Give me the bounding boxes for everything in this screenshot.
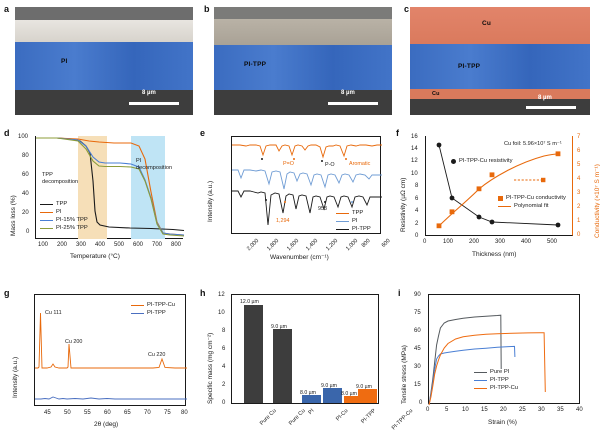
panel-e-xtick-1000: 1,000 [345, 238, 359, 252]
legend-label-pi25: PI-25% TPP [56, 224, 88, 232]
panel-g-axes: Cu 111 Cu 200 Cu 220 PI-TPP-Cu PI-TPP [34, 294, 186, 406]
sem-panel-a: PI 8 µm [15, 7, 193, 115]
panel-f-ytick-2: 2 [415, 221, 418, 227]
legend-item-e-pitpp: PI-TPP [336, 225, 371, 233]
panel-d-xtick-100: 100 [38, 242, 48, 248]
legend-swatch-pi [40, 212, 53, 213]
panel-e-axes: P=O P-O Aromatic 1,294 953 TPP PI PI-TPP [231, 136, 381, 234]
panel-label-c: c [404, 4, 409, 14]
peak-marker-4 [345, 158, 347, 160]
panel-e-xtick-1200: 1,200 [325, 238, 339, 252]
panel-h-xtick-pi: PI [308, 408, 316, 416]
panel-d-ytick-80: 80 [22, 153, 29, 159]
panel-f-ytick-14: 14 [411, 146, 418, 152]
panel-f-ytick-0: 0 [415, 233, 418, 239]
peak-label-p-double-o: P=O [283, 161, 294, 167]
panel-h-xtick-pi-cu: PI-Cu [335, 408, 349, 422]
panel-i-ytick-75: 75 [414, 310, 421, 316]
panel-e-xtick-800: 800 [361, 238, 372, 249]
figure-root: a PI 8 µm b PI-TPP 8 µm c Cu PI-TPP Cu 8… [0, 0, 600, 444]
legend-swatch-i-pitpp [474, 380, 487, 381]
peak-label-cu111: Cu 111 [45, 310, 62, 316]
panel-i-ytick-45: 45 [414, 346, 421, 352]
panel-h-ytick-4: 4 [222, 364, 225, 370]
panel-d-ytick-0: 0 [26, 229, 29, 235]
bar-pi [302, 395, 321, 403]
peak-marker-2 [293, 158, 295, 160]
panel-g-xlabel: 2θ (deg) [94, 421, 118, 428]
panel-g-ylabel: Intensity (a.u.) [12, 357, 19, 398]
plot-panel-i: Tensile stress (MPa) Pure PI PI-TPP PI-T… [390, 286, 600, 441]
series-xrd-pitpp [35, 397, 187, 399]
peak-label-p-o: P-O [325, 162, 335, 168]
panel-f-xtick-300: 300 [495, 239, 505, 245]
bar-label-pi-cu: 9.0 µm [321, 383, 337, 389]
legend-item-f-conductivity: PI-TPP-Cu conductivity [498, 194, 566, 202]
peak-marker-3 [321, 160, 323, 162]
sem-a-scale-text: 8 µm [142, 90, 156, 96]
peak-marker-1 [261, 158, 263, 160]
legend-item-f-polyfit: Polynomial fit [498, 202, 566, 210]
panel-i-ytick-90: 90 [414, 292, 421, 298]
bar-pi-tpp-cu [358, 389, 377, 403]
panel-d-ytick-20: 20 [22, 210, 29, 216]
legend-swatch-pi25 [40, 228, 53, 229]
panel-h-ytick-6: 6 [222, 346, 225, 352]
panel-i-xtick-5: 5 [445, 407, 448, 413]
panel-f-annotation-cufoil: Cu foil: 5.96×10⁷ S m⁻¹ [504, 141, 562, 148]
panel-f-canvas [426, 136, 574, 236]
legend-swatch-e-tpp [336, 213, 349, 214]
panel-e-xtick-2000: 2,000 [246, 238, 260, 252]
panel-h-ytick-8: 8 [222, 328, 225, 334]
panel-d-annotation-tpp: TPPdecomposition [42, 172, 78, 186]
panel-g-xtick-75: 75 [164, 410, 171, 416]
sem-a-top-bg [15, 7, 193, 20]
bar-pi-cu [323, 388, 342, 403]
legend-swatch-f-polyfit [498, 206, 511, 207]
panel-f-y2tick-3: 3 [577, 190, 580, 196]
panel-f-ytick-8: 8 [415, 183, 418, 189]
panel-label-b: b [204, 4, 210, 14]
sem-b-scale-bar [328, 102, 378, 105]
sem-a-pi-layer [15, 42, 193, 90]
panel-i-ytick-15: 15 [414, 382, 421, 388]
panel-d-ytick-100: 100 [18, 134, 28, 140]
panel-h-xtick-pi-tpp: PI-TPP [360, 408, 377, 425]
panel-f-legend-resistivity: PI-TPP-Cu resistivity [451, 157, 512, 165]
legend-item-i-pitpp: PI-TPP [474, 376, 518, 384]
sem-b-resin-layer [214, 19, 392, 45]
peak-label-cu220: Cu 220 [148, 352, 165, 358]
sem-b-scale-text: 8 µm [341, 90, 355, 96]
panel-d-xtick-800: 800 [171, 242, 181, 248]
sem-b-pitpp-layer [214, 45, 392, 90]
panel-f-y2tick-4: 4 [577, 176, 580, 182]
legend-swatch-pi15 [40, 220, 53, 221]
panel-d-ylabel: Mass loss (%) [10, 195, 17, 236]
panel-i-xtick-35: 35 [557, 407, 564, 413]
panel-e-xtick-1600: 1,600 [286, 238, 300, 252]
sem-panel-b: PI-TPP 8 µm [214, 7, 392, 115]
peak-marker-5 [265, 199, 267, 201]
panel-f-legend-conductivity: PI-TPP-Cu conductivity Polynomial fit [498, 194, 566, 210]
legend-item-pi: PI [40, 208, 88, 216]
panel-f-xtick-500: 500 [547, 239, 557, 245]
sem-a-resin-layer [15, 20, 193, 42]
peak-value-1294: 1,294 [276, 218, 290, 224]
sem-c-scale-text: 8 µm [538, 95, 552, 101]
panel-d-xtick-200: 200 [57, 242, 67, 248]
panel-f-ytick-4: 4 [415, 208, 418, 214]
panel-f-y2tick-1: 1 [577, 218, 580, 224]
panel-h-ytick-2: 2 [222, 382, 225, 388]
series-ftir-tpp [232, 145, 382, 157]
plot-panel-h: Specific mass (mg cm⁻²) 12.0 µm 9.0 µm 8… [195, 286, 395, 441]
panel-g-xtick-45: 45 [44, 410, 51, 416]
panel-h-ylabel: Specific mass (mg cm⁻²) [206, 333, 214, 404]
panel-e-xtick-1400: 1,400 [305, 238, 319, 252]
sem-a-layer-label: PI [61, 58, 68, 65]
panel-i-ytick-60: 60 [414, 328, 421, 334]
panel-i-ylabel: Tensile stress (MPa) [401, 345, 408, 404]
legend-label-i-pitppcu: PI-TPP-Cu [490, 384, 518, 392]
bar-label-pi: 8.0 µm [300, 390, 316, 396]
panel-i-ytick-0: 0 [419, 400, 422, 406]
sem-c-cu-top-layer [410, 7, 590, 44]
legend-item-pi15: PI-15% TPP [40, 216, 88, 224]
bar-label-pure-cu-9: 9.0 µm [271, 324, 287, 330]
bar-pure-cu-12 [244, 305, 263, 404]
panel-f-xtick-200: 200 [469, 239, 479, 245]
panel-d-legend: TPP PI PI-15% TPP PI-25% TPP [40, 200, 88, 232]
panel-i-xtick-20: 20 [500, 407, 507, 413]
panel-f-xtick-0: 0 [423, 239, 426, 245]
bar-pure-cu-9 [273, 329, 292, 403]
panel-f-y2tick-6: 6 [577, 148, 580, 154]
panel-f-y2tick-0: 0 [577, 232, 580, 238]
panel-i-xlabel: Strain (%) [488, 419, 517, 426]
bar-label-pi-tpp-cu: 9.0 µm [356, 384, 372, 390]
panel-i-xtick-25: 25 [519, 407, 526, 413]
legend-swatch-i-pitppcu [474, 388, 487, 389]
panel-f-y2tick-5: 5 [577, 162, 580, 168]
panel-e-legend: TPP PI PI-TPP [336, 209, 371, 233]
panel-i-xtick-15: 15 [481, 407, 488, 413]
panel-h-xtick-pure-cu-1: Pure Cu [259, 408, 278, 427]
panel-i-axes: Pure PI PI-TPP PI-TPP-Cu [428, 294, 580, 404]
peak-marker-6 [284, 201, 286, 203]
panel-f-ytick-12: 12 [411, 158, 418, 164]
panel-i-xtick-30: 30 [538, 407, 545, 413]
panel-g-xtick-70: 70 [144, 410, 151, 416]
panel-g-xtick-65: 65 [124, 410, 131, 416]
legend-item-g-pitppcu: PI-TPP-Cu [131, 301, 175, 309]
panel-g-xtick-55: 55 [84, 410, 91, 416]
sem-c-cu-top-label: Cu [482, 20, 491, 27]
panel-h-axes: 12.0 µm 9.0 µm 8.0 µm 9.0 µm 8.0 µm 9.0 … [231, 294, 379, 404]
peak-marker-8 [351, 201, 353, 203]
series-xrd-pitpp-cu [35, 313, 187, 368]
panel-f-ylabel: Resistivity (µΩ cm) [400, 178, 407, 232]
legend-label-f-polyfit: Polynomial fit [514, 202, 548, 210]
legend-item-i-pitppcu: PI-TPP-Cu [474, 384, 518, 392]
sem-a-scale-bar [129, 102, 179, 105]
legend-item-f-resistivity: PI-TPP-Cu resistivity [451, 157, 512, 165]
sem-c-pitpp-label: PI-TPP [458, 63, 480, 70]
legend-swatch-g-pitppcu [131, 305, 144, 306]
legend-swatch-f-conductivity [498, 196, 503, 201]
panel-d-xtick-700: 700 [152, 242, 162, 248]
sem-b-layer-label: PI-TPP [244, 61, 266, 68]
sem-b-top-bg [214, 7, 392, 19]
panel-h-ytick-0: 0 [222, 400, 225, 406]
legend-item-g-pitpp: PI-TPP [131, 309, 175, 317]
sem-c-cu-bottom-label: Cu [432, 91, 440, 97]
peak-label-cu200: Cu 200 [65, 339, 82, 345]
panel-i-xtick-40: 40 [576, 407, 583, 413]
bar-label-pure-cu-12: 12.0 µm [240, 299, 259, 305]
panel-h-ytick-12: 12 [218, 292, 225, 298]
panel-i-xtick-0: 0 [426, 407, 429, 413]
panel-h-xtick-pure-cu-2: Pure Cu [288, 408, 307, 427]
plot-panel-f: Resistivity (µΩ cm) Conductivity (×10⁷ S… [390, 126, 600, 266]
peak-label-aromatic: Aromatic [349, 161, 370, 167]
panel-d-xtick-500: 500 [114, 242, 124, 248]
panel-e-ylabel: Intensity (a.u.) [207, 181, 214, 222]
panel-d-xtick-300: 300 [76, 242, 86, 248]
legend-item-tpp: TPP [40, 200, 88, 208]
panel-f-y2tick-7: 7 [577, 134, 580, 140]
peak-marker-7 [324, 201, 326, 203]
panel-g-xtick-80: 80 [181, 410, 188, 416]
legend-item-i-purepi: Pure PI [474, 368, 518, 376]
legend-label-e-pitpp: PI-TPP [352, 225, 371, 233]
panel-i-legend: Pure PI PI-TPP PI-TPP-Cu [474, 368, 518, 392]
panel-g-xtick-60: 60 [104, 410, 111, 416]
panel-f-xtick-100: 100 [443, 239, 453, 245]
panel-f-ytick-10: 10 [411, 171, 418, 177]
sem-c-pitpp-layer [410, 44, 590, 89]
legend-swatch-g-pitpp [131, 313, 144, 314]
panel-d-xlabel: Temperature (°C) [70, 253, 120, 260]
legend-swatch-i-purepi [474, 372, 487, 373]
panel-g-xtick-50: 50 [64, 410, 71, 416]
legend-swatch-e-pitpp [336, 229, 349, 230]
panel-g-legend: PI-TPP-Cu PI-TPP [131, 301, 175, 317]
panel-e-xlabel: Wavenumber (cm⁻¹) [270, 253, 329, 261]
legend-swatch-e-pi [336, 221, 349, 222]
legend-item-e-pi: PI [336, 217, 371, 225]
panel-f-ytick-16: 16 [411, 134, 418, 140]
panel-f-y2label: Conductivity (×10⁷ S m⁻¹) [593, 164, 600, 238]
panel-d-axes: TPPdecomposition PIdecomposition TPP PI … [35, 136, 183, 239]
sem-panel-c: Cu PI-TPP Cu 8 µm [410, 7, 590, 115]
legend-label-g-pitpp: PI-TPP [147, 309, 166, 317]
panel-d-xtick-600: 600 [133, 242, 143, 248]
legend-label-f-resistivity: PI-TPP-Cu resistivity [459, 157, 512, 165]
panel-d-xtick-400: 400 [95, 242, 105, 248]
legend-swatch-f-resistivity [451, 159, 456, 164]
legend-item-e-tpp: TPP [336, 209, 371, 217]
legend-item-pi25: PI-25% TPP [40, 224, 88, 232]
plot-panel-g: Intensity (a.u.) Cu 111 Cu 200 Cu 220 PI… [0, 286, 195, 441]
panel-label-a: a [4, 4, 9, 14]
panel-e-xtick-1800: 1,800 [266, 238, 280, 252]
plot-panel-e: Intensity (a.u.) P=O P-O Aromatic 1,294 … [195, 126, 395, 266]
sem-c-scale-bar [526, 106, 576, 109]
panel-f-xlabel: Thickness (nm) [472, 251, 516, 258]
panel-h-ytick-10: 10 [218, 310, 225, 316]
panel-f-axes: Cu foil: 5.96×10⁷ S m⁻¹ PI-TPP-Cu resist… [425, 136, 573, 236]
panel-f-ytick-6: 6 [415, 196, 418, 202]
plot-panel-d: Mass loss (%) TPPdecomposition PIdecompo… [0, 126, 195, 266]
peak-value-953: 953 [318, 206, 327, 212]
legend-swatch-tpp [40, 204, 53, 205]
series-ftir-pi [232, 170, 382, 189]
panel-d-annotation-pi: PIdecomposition [136, 158, 172, 172]
panel-i-xtick-10: 10 [462, 407, 469, 413]
panel-d-ytick-40: 40 [22, 191, 29, 197]
panel-f-y2tick-2: 2 [577, 204, 580, 210]
panel-f-xtick-400: 400 [521, 239, 531, 245]
panel-i-ytick-30: 30 [414, 364, 421, 370]
panel-d-ytick-60: 60 [22, 172, 29, 178]
bar-label-pi-tpp: 8.0 µm [341, 391, 357, 397]
